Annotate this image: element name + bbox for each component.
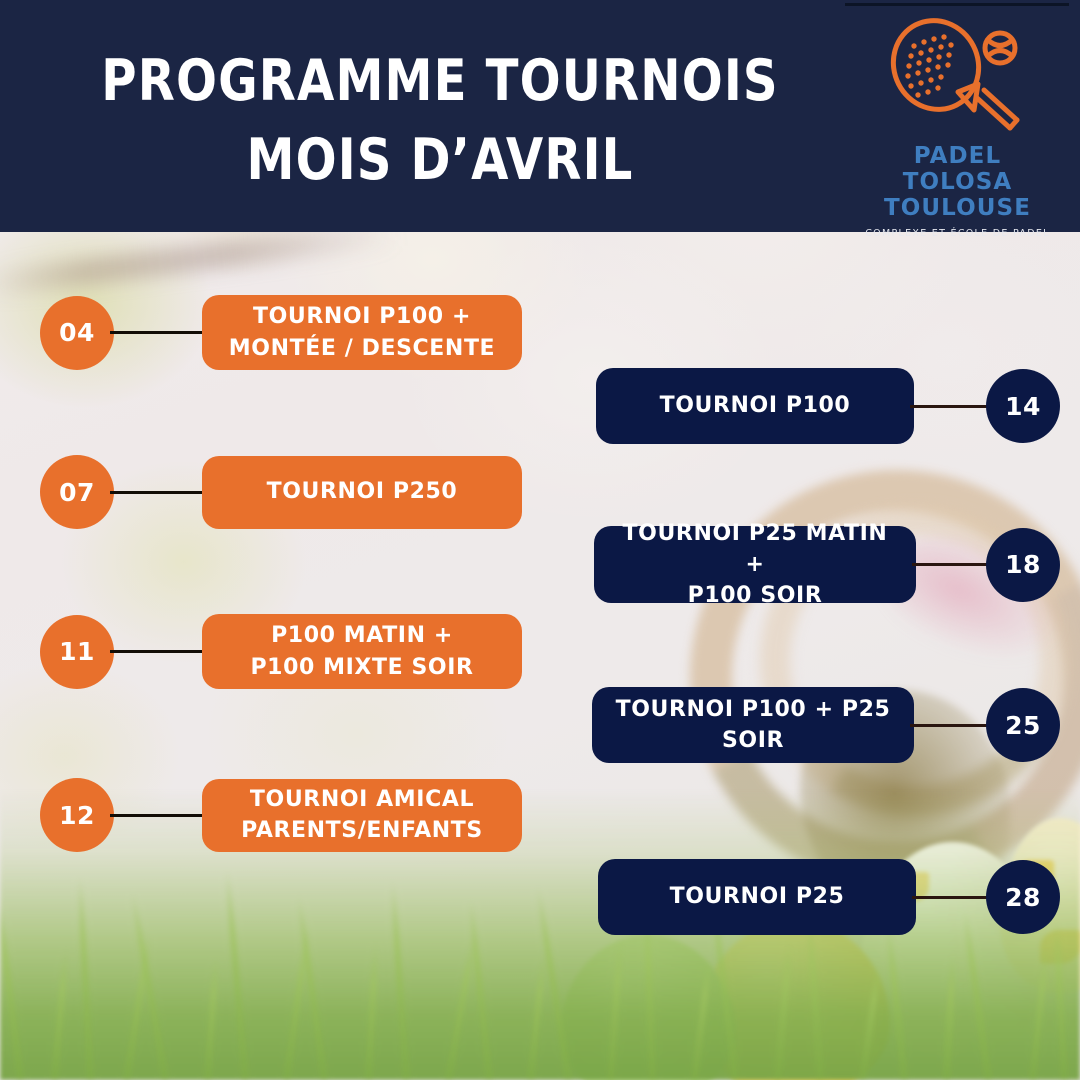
event-label: TOURNOI P100 bbox=[660, 390, 851, 421]
schedule-row[interactable]: 04 TOURNOI P100 + MONTÉE / DESCENTE bbox=[40, 295, 522, 370]
event-label: TOURNOI P100 + MONTÉE / DESCENTE bbox=[229, 301, 495, 363]
event-label: P100 MATIN + P100 MIXTE SOIR bbox=[250, 620, 473, 682]
brand-logo: PADEL TOLOSA TOULOUSE COMPLEXE ET ÉCOLE … bbox=[855, 18, 1060, 224]
brand-name-line1: PADEL TOLOSA bbox=[903, 143, 1013, 195]
page-title-line2: MOIS D’AVRIL bbox=[83, 121, 797, 200]
event-label-line1: TOURNOI P25 MATIN + bbox=[623, 521, 888, 577]
brand-tagline: COMPLEXE ET ÉCOLE DE PADEL bbox=[855, 228, 1060, 239]
event-label-line1: TOURNOI AMICAL bbox=[250, 787, 474, 812]
event-label-line2: P100 SOIR bbox=[688, 583, 823, 608]
connector-line bbox=[110, 650, 206, 653]
event-label-line2: MONTÉE / DESCENTE bbox=[229, 336, 495, 361]
brand-name: PADEL TOLOSA TOULOUSE bbox=[855, 144, 1060, 221]
schedule-row[interactable]: 14 TOURNOI P100 bbox=[596, 368, 1060, 444]
day-bubble: 14 bbox=[986, 369, 1060, 443]
event-label-line1: TOURNOI P100 + bbox=[253, 304, 471, 329]
connector-line bbox=[110, 331, 206, 334]
event-label-line1: TOURNOI P25 bbox=[670, 884, 845, 909]
header-bar: PROGRAMME TOURNOIS MOIS D’AVRIL bbox=[0, 0, 1080, 232]
event-label: TOURNOI P25 MATIN + P100 SOIR bbox=[612, 518, 898, 612]
header-top-rule bbox=[845, 3, 1069, 6]
schedule-row[interactable]: 11 P100 MATIN + P100 MIXTE SOIR bbox=[40, 614, 522, 689]
event-label-line1: P100 MATIN + bbox=[271, 623, 453, 648]
event-pill: TOURNOI P100 + MONTÉE / DESCENTE bbox=[202, 295, 522, 370]
event-pill: P100 MATIN + P100 MIXTE SOIR bbox=[202, 614, 522, 689]
day-bubble: 18 bbox=[986, 528, 1060, 602]
event-label-line2: P100 MIXTE SOIR bbox=[250, 655, 473, 680]
event-pill: TOURNOI P25 bbox=[598, 859, 916, 935]
connector-line bbox=[912, 896, 990, 899]
event-label-line1: TOURNOI P250 bbox=[267, 479, 458, 504]
schedule-row[interactable]: 07 TOURNOI P250 bbox=[40, 455, 522, 529]
event-pill: TOURNOI AMICAL PARENTS/ENFANTS bbox=[202, 779, 522, 852]
connector-line bbox=[910, 405, 990, 408]
padel-racket-and-ball-icon bbox=[878, 18, 1038, 142]
event-label: TOURNOI P100 + P25 SOIR bbox=[616, 694, 891, 756]
connector-line bbox=[912, 563, 990, 566]
day-bubble: 28 bbox=[986, 860, 1060, 934]
event-pill: TOURNOI P100 bbox=[596, 368, 914, 444]
connector-line bbox=[910, 724, 990, 727]
day-bubble: 07 bbox=[40, 455, 114, 529]
schedule-row[interactable]: 12 TOURNOI AMICAL PARENTS/ENFANTS bbox=[40, 778, 522, 852]
event-label-line2: PARENTS/ENFANTS bbox=[241, 818, 483, 843]
event-pill: TOURNOI P25 MATIN + P100 SOIR bbox=[594, 526, 916, 603]
day-bubble: 12 bbox=[40, 778, 114, 852]
event-label-line1: TOURNOI P100 bbox=[660, 393, 851, 418]
schedule-row[interactable]: 18 TOURNOI P25 MATIN + P100 SOIR bbox=[594, 526, 1060, 603]
event-label-line1: TOURNOI P100 + P25 bbox=[616, 697, 891, 722]
page-title-line1: PROGRAMME TOURNOIS bbox=[101, 48, 778, 114]
day-bubble: 25 bbox=[986, 688, 1060, 762]
connector-line bbox=[110, 491, 206, 494]
event-label: TOURNOI P250 bbox=[267, 476, 458, 507]
day-bubble: 04 bbox=[40, 296, 114, 370]
schedule-row[interactable]: 25 TOURNOI P100 + P25 SOIR bbox=[592, 687, 1060, 763]
event-pill: TOURNOI P250 bbox=[202, 456, 522, 529]
event-pill: TOURNOI P100 + P25 SOIR bbox=[592, 687, 914, 763]
event-label: TOURNOI AMICAL PARENTS/ENFANTS bbox=[241, 784, 483, 846]
brand-name-line2: TOULOUSE bbox=[855, 196, 1060, 222]
connector-line bbox=[110, 814, 206, 817]
day-bubble: 11 bbox=[40, 615, 114, 689]
event-label: TOURNOI P25 bbox=[670, 881, 845, 912]
schedule-row[interactable]: 28 TOURNOI P25 bbox=[598, 859, 1060, 935]
event-label-line2: SOIR bbox=[722, 728, 784, 753]
poster: PROGRAMME TOURNOIS MOIS D’AVRIL bbox=[0, 0, 1080, 1080]
page-title: PROGRAMME TOURNOIS MOIS D’AVRIL bbox=[83, 42, 797, 199]
